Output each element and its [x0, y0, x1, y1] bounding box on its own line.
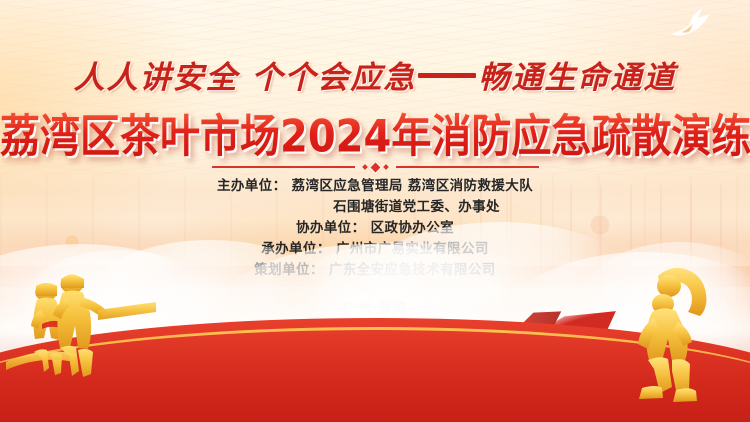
organizer-row: 主办单位： 荔湾区应急管理局 荔湾区消防救援大队 — [0, 176, 750, 197]
decorative-divider — [0, 160, 750, 174]
slogan-part-1: 人人讲安全 个个会应急 — [74, 60, 417, 96]
organizer-row: 石围塘街道党工委、办事处 — [0, 197, 750, 218]
organizer-value: 荔湾区应急管理局 荔湾区消防救援大队 — [292, 176, 533, 197]
rescuer-carrying-person-silhouette — [606, 256, 736, 406]
organizer-label: 协办单位： — [296, 218, 366, 239]
organizer-value: 广州市广易实业有限公司 — [336, 239, 489, 260]
organizer-label: 主办单位： — [217, 176, 287, 197]
slogan-dash — [418, 73, 476, 78]
divider-line-right — [396, 166, 539, 168]
slogan-part-2: 畅通生命通道 — [478, 60, 676, 96]
dove-icon — [666, 8, 712, 42]
divider-diamond-icon — [367, 159, 383, 175]
organizer-value: 广东全安应急技术有限公司 — [329, 260, 496, 281]
organizer-label: 策划单位： — [254, 260, 324, 281]
organizer-label: 承办单位： — [261, 239, 331, 260]
firefighters-with-hose-silhouette — [6, 262, 156, 392]
slogan-line: 人人讲安全 个个会应急畅通生命通道 — [0, 52, 750, 97]
organizer-value: 石围塘街道党工委、办事处 — [333, 197, 500, 218]
main-title: 荔湾区茶叶市场2024年消防应急疏散演练 — [0, 100, 750, 165]
divider-dot-right — [383, 164, 389, 170]
divider-line-left — [212, 166, 355, 168]
divider-ornament — [363, 162, 388, 173]
organizer-row: 协办单位： 区政协办公室 — [0, 218, 750, 239]
organizer-value: 区政协办公室 — [371, 218, 454, 239]
poster-banner: 人人讲安全 个个会应急畅通生命通道 荔湾区茶叶市场2024年消防应急疏散演练 主… — [0, 0, 750, 422]
